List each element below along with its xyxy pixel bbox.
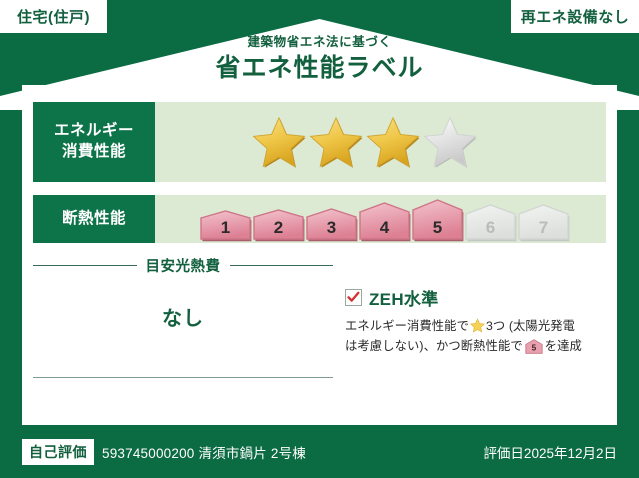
insulation-scale: 1234567 [199, 195, 570, 243]
energy-label-line2: 消費性能 [62, 142, 126, 163]
star-empty-icon [422, 115, 478, 169]
zeh-description: エネルギー消費性能で3つ (太陽光発電は考慮しない)、かつ断熱性能で5を達成 [345, 317, 607, 357]
zeh-desc-star-count: 3つ (太陽光発電 [486, 319, 575, 333]
insulation-house-inactive: 7 [517, 203, 570, 243]
footer-left-group: 自己評価 593745000200 清須市鍋片 2号棟 [22, 439, 306, 465]
star-filled-icon [365, 115, 421, 169]
label-footer: 自己評価 593745000200 清須市鍋片 2号棟 評価日2025年12月2… [0, 425, 639, 478]
utility-cost-heading: 目安光熱費 [146, 255, 221, 276]
star-rating [251, 115, 478, 169]
heading-rule-right [230, 265, 334, 266]
label-title: 建築物省エネ法に基づく 省エネ性能ラベル [0, 36, 639, 84]
insulation-level-number: 1 [221, 218, 230, 237]
zeh-desc-part3: を達成 [545, 339, 582, 353]
zeh-desc-part2: は考慮しない)、かつ断熱性能で [345, 339, 523, 353]
insulation-performance-label-box: 断熱性能 [33, 195, 155, 243]
utility-cost-section: 目安光熱費 なし [33, 255, 333, 331]
footer-evaluation-date: 評価日2025年12月2日 [483, 442, 617, 462]
star-filled-icon [251, 115, 307, 169]
insulation-level-number: 7 [539, 218, 548, 237]
insulation-house-active: 1 [199, 209, 252, 243]
star-filled-icon [308, 115, 364, 169]
insulation-level-number: 3 [327, 218, 336, 237]
insulation-level-number: 4 [380, 218, 390, 237]
inline-house-badge-icon: 5 [525, 339, 543, 354]
insulation-level-number: 6 [486, 218, 495, 237]
zeh-section: ZEH水準 エネルギー消費性能で3つ (太陽光発電は考慮しない)、かつ断熱性能で… [345, 285, 607, 357]
badge-renewable-equipment: 再エネ設備なし [511, 0, 639, 33]
insulation-level-number: 2 [274, 218, 283, 237]
svg-text:5: 5 [531, 343, 536, 352]
utility-cost-divider [33, 377, 333, 378]
self-evaluation-badge: 自己評価 [22, 439, 94, 465]
zeh-desc-part1: エネルギー消費性能で [345, 319, 469, 333]
zeh-checkbox[interactable] [345, 289, 362, 306]
title-subtitle: 建築物省エネ法に基づく [0, 36, 639, 50]
heading-rule-left [33, 265, 137, 266]
zeh-title: ZEH水準 [369, 285, 439, 310]
insulation-performance-row: 断熱性能 1234567 [33, 195, 606, 243]
insulation-house-active: 5 [411, 198, 464, 243]
label-card: エネルギー 消費性能 断熱性能 1234567 目安光熱費 なし [22, 85, 617, 425]
energy-performance-label: 住宅(住戸) 再エネ設備なし 建築物省エネ法に基づく 省エネ性能ラベル エネルギ… [0, 0, 639, 478]
title-main: 省エネ性能ラベル [0, 53, 639, 84]
insulation-house-active: 2 [252, 208, 305, 243]
energy-performance-body [155, 102, 606, 182]
insulation-house-inactive: 6 [464, 203, 517, 243]
insulation-performance-body: 1234567 [155, 195, 606, 243]
zeh-title-row: ZEH水準 [345, 285, 607, 310]
energy-performance-row: エネルギー 消費性能 [33, 102, 606, 182]
energy-performance-label-box: エネルギー 消費性能 [33, 102, 155, 182]
check-icon [347, 291, 360, 304]
energy-label-line1: エネルギー [54, 121, 134, 142]
badge-dwelling-type: 住宅(住戸) [0, 0, 107, 33]
inline-star-icon [470, 318, 485, 333]
utility-cost-value: なし [33, 302, 333, 331]
insulation-house-active: 4 [358, 201, 411, 243]
utility-cost-heading-row: 目安光熱費 [33, 255, 333, 276]
insulation-level-number: 5 [433, 218, 442, 237]
insulation-house-active: 3 [305, 207, 358, 243]
insulation-label: 断熱性能 [62, 209, 126, 230]
footer-id-address: 593745000200 清須市鍋片 2号棟 [102, 442, 306, 462]
